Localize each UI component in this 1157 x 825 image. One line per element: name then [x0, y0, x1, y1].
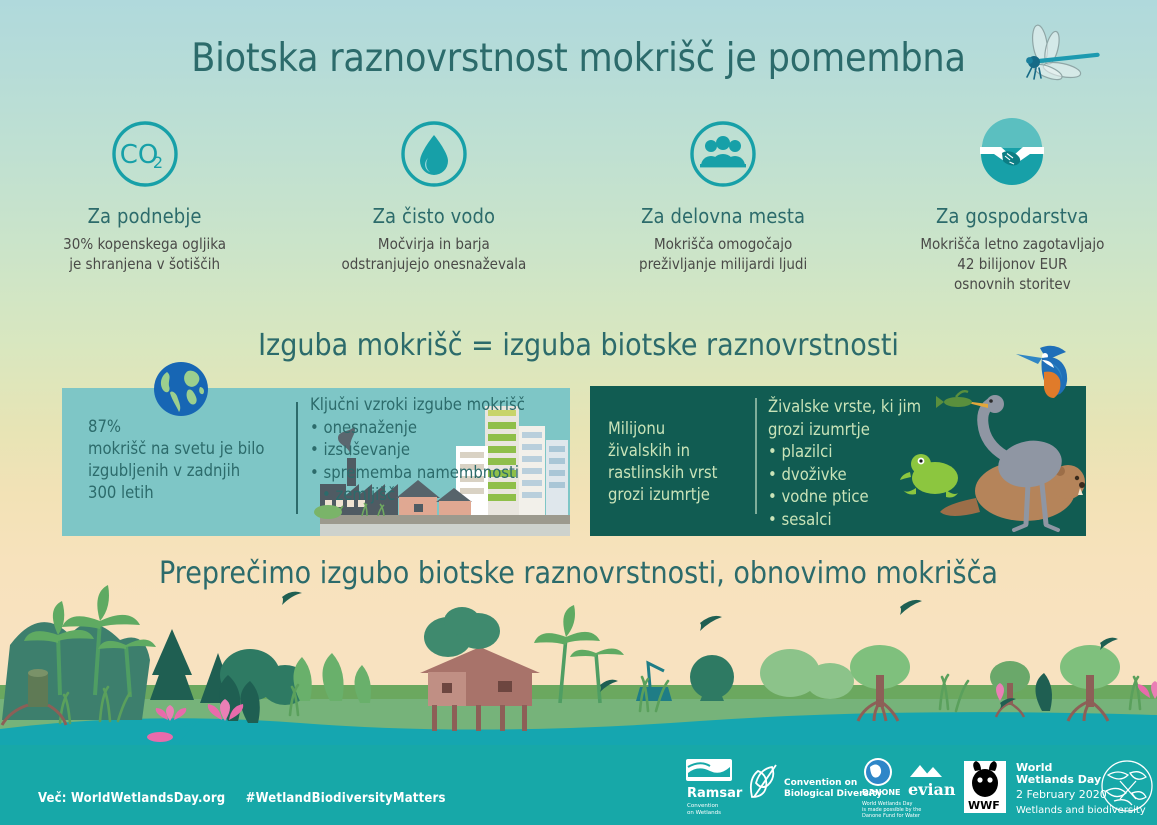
ramsar-sub-1: Convention — [687, 803, 719, 809]
cause-item: sprememba namembnosti — [310, 462, 540, 485]
stat-line-2: izgubljenih v zadnjih — [88, 460, 288, 482]
cause-item: onesnaženje — [310, 417, 540, 440]
wwd-title-2: Wetlands Day — [1016, 773, 1101, 786]
ramsar-sub-2: on Wetlands — [687, 810, 721, 816]
causes-list-block: Ključni vzroki izgube mokrišč onesnaženj… — [310, 394, 540, 507]
benefit-clean-water: Za čisto vodo Močvirja in barja odstranj… — [289, 118, 578, 294]
million-line-2: živalskih in — [608, 440, 748, 462]
stat-line-3: 300 letih — [88, 482, 288, 504]
species-million-block: Milijonu živalskih in rastlinskih vrst g… — [608, 418, 748, 506]
world-wetlands-day-logo: World Wetlands Day 2 February 2020 Wetla… — [1016, 761, 1152, 816]
evian-logo: evian — [908, 765, 956, 799]
water-drop-icon — [398, 118, 470, 190]
species-heading-line-2: grozi izumrtje — [768, 419, 968, 442]
benefit-line-1: Močvirja in barja — [289, 234, 578, 254]
cause-item-continuation: zemljišč — [310, 484, 540, 507]
stat-value: 87% — [88, 416, 288, 438]
danone-fine-3: Danone Fund for Water — [862, 813, 921, 819]
species-item: plazilci — [768, 441, 968, 464]
benefit-line-1: 30% kopenskega ogljika — [0, 234, 289, 254]
million-line-1: Milijonu — [608, 418, 748, 440]
million-line-4: grozi izumrtje — [608, 484, 748, 506]
wetland-loss-stat: 87% mokrišč na svetu je bilo izgubljenih… — [88, 416, 288, 504]
benefit-line-2: odstranjujejo onesnaževala — [289, 254, 578, 274]
footer-links: Več: WorldWetlandsDay.org #WetlandBiodiv… — [38, 791, 446, 806]
wwf-title: WWF — [968, 799, 1000, 812]
benefit-line-3: osnovnih storitev — [868, 274, 1157, 294]
panel-divider-right — [755, 398, 757, 514]
benefit-heading: Za gospodarstva — [868, 204, 1157, 228]
benefit-line-2: preživljanje milijardi ljudi — [579, 254, 868, 274]
panel-divider-left — [296, 402, 298, 514]
species-item: vodne ptice — [768, 486, 968, 509]
wwf-logo: WWF — [964, 761, 1006, 813]
benefit-climate: CO 2 Za podnebje 30% kopenskega ogljika … — [0, 118, 289, 294]
species-heading-line-1: Živalske vrste, ki jim — [768, 396, 968, 419]
footer-bar: Več: WorldWetlandsDay.org #WetlandBiodiv… — [0, 745, 1157, 825]
co2-subscript: 2 — [153, 153, 163, 172]
cbd-title-1: Convention on — [784, 778, 857, 788]
hashtag-label[interactable]: #WetlandBiodiversityMatters — [246, 791, 446, 806]
dragonfly-icon — [1000, 22, 1112, 94]
people-group-icon — [687, 118, 759, 190]
benefit-heading: Za podnebje — [0, 204, 289, 228]
stat-line-1: mokrišč na svetu je bilo — [88, 438, 288, 460]
section-heading-loss: Izguba mokrišč = izguba biotske raznovrs… — [0, 328, 1157, 363]
species-item: dvoživke — [768, 464, 968, 487]
ramsar-logo: Ramsar Convention on Wetlands — [686, 759, 743, 816]
partner-logos: Ramsar Convention on Wetlands Convention… — [684, 753, 1154, 821]
benefit-jobs: Za delovna mesta Mokrišča omogočajo prež… — [579, 118, 868, 294]
benefit-economies: Za gospodarstva Mokrišča letno zagotavlj… — [868, 118, 1157, 294]
benefit-line-2: 42 bilijonov EUR — [868, 254, 1157, 274]
globe-icon — [147, 360, 215, 418]
benefit-line-2: je shranjena v šotiščih — [0, 254, 289, 274]
infographic-page: Biotska raznovrstnost mokrišč je pomembn… — [0, 0, 1157, 825]
wwd-emblem-icon — [1102, 761, 1152, 811]
benefit-heading: Za čisto vodo — [289, 204, 578, 228]
more-info-link[interactable]: Več: WorldWetlandsDay.org — [38, 791, 225, 806]
danone-title: DANONE — [862, 788, 901, 797]
species-list: plazilci dvoživke vodne ptice sesalci — [768, 441, 968, 531]
million-line-3: rastlinskih vrst — [608, 462, 748, 484]
cause-item: izsuševanje — [310, 439, 540, 462]
evian-title: evian — [908, 780, 956, 799]
benefit-heading: Za delovna mesta — [579, 204, 868, 228]
species-list-block: Živalske vrste, ki jim grozi izumrtje pl… — [768, 396, 968, 531]
benefit-line-1: Mokrišča letno zagotavljajo — [868, 234, 1157, 254]
causes-heading: Ključni vzroki izgube mokrišč — [310, 394, 540, 417]
kingfisher-icon — [1012, 338, 1074, 402]
co2-icon: CO 2 — [109, 118, 181, 190]
benefits-row: CO 2 Za podnebje 30% kopenskega ogljika … — [0, 118, 1157, 294]
handshake-icon — [976, 118, 1048, 190]
page-title: Biotska raznovrstnost mokrišč je pomembn… — [0, 36, 1157, 81]
ramsar-title: Ramsar — [687, 786, 743, 801]
closing-statement: Preprečimo izgubo biotske raznovrstnosti… — [0, 556, 1157, 591]
benefit-line-1: Mokrišča omogočajo — [579, 234, 868, 254]
wwd-date: 2 February 2020 — [1016, 788, 1107, 801]
causes-list: onesnaženje izsuševanje sprememba namemb… — [310, 417, 540, 507]
